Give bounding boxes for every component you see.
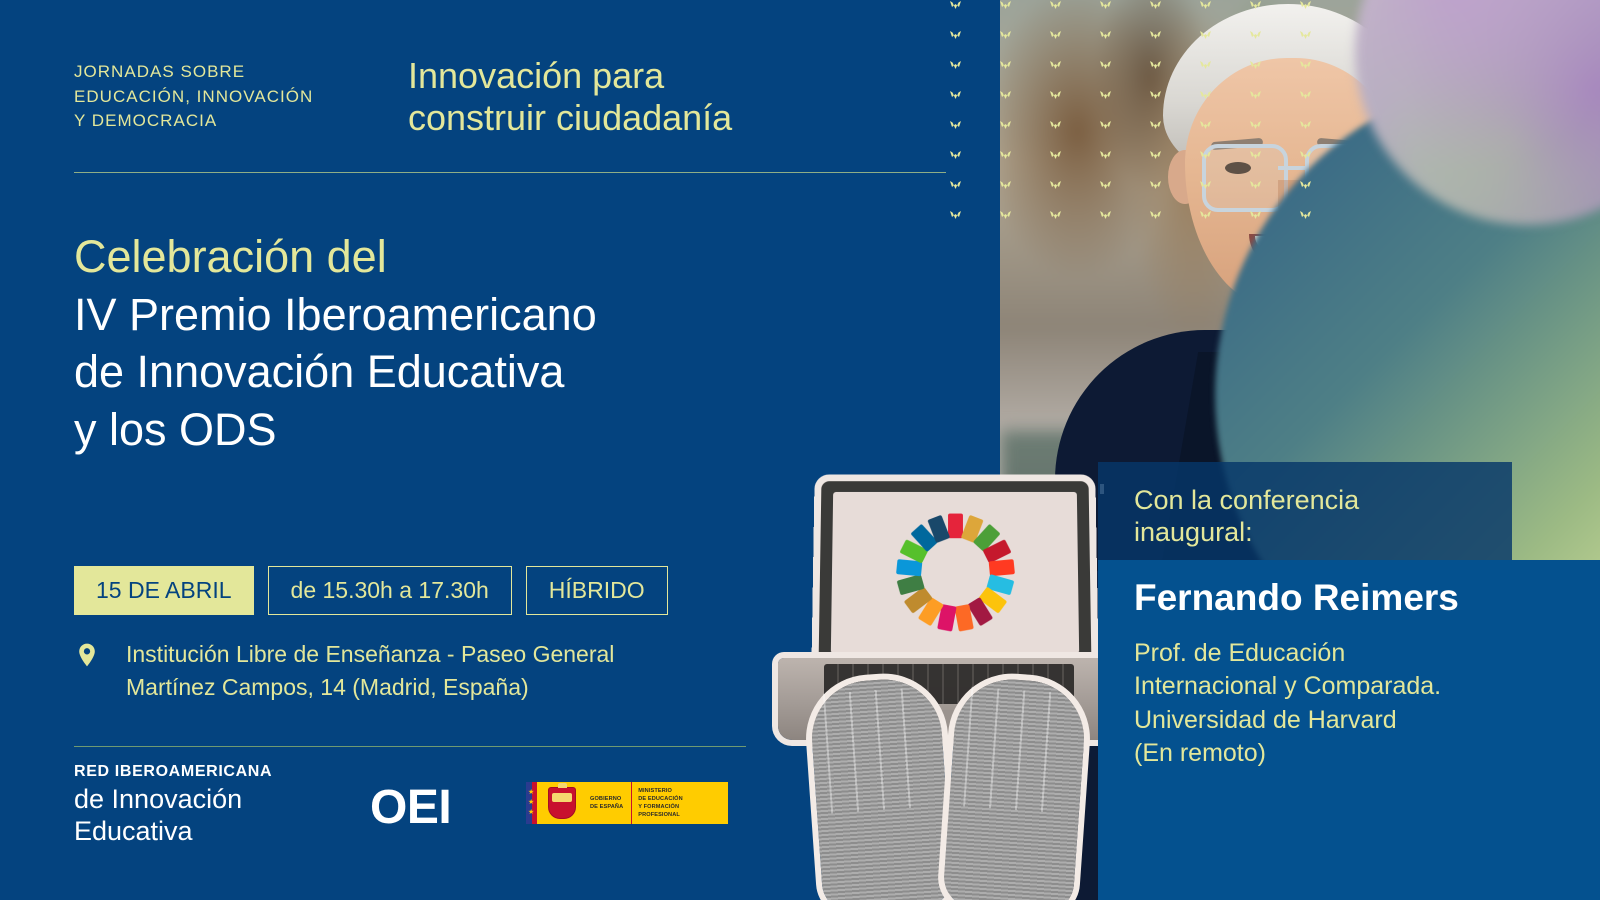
location-line-1: Institución Libre de Enseñanza - Paseo G… xyxy=(126,638,734,671)
chevron-icon xyxy=(1248,150,1262,160)
chevron-icon xyxy=(1148,90,1162,100)
chevron-icon xyxy=(1198,150,1212,160)
chevron-icon xyxy=(998,120,1012,130)
laptop-illustration xyxy=(760,470,1130,900)
event-kicker: JORNADAS SOBRE EDUCACIÓN, INNOVACIÓN Y D… xyxy=(74,60,404,134)
chevron-icon xyxy=(948,90,962,100)
badge-date[interactable]: 15 DE ABRIL xyxy=(74,566,254,615)
chevron-icon xyxy=(1248,90,1262,100)
lead-line-2: construir ciudadanía xyxy=(408,97,928,139)
chevron-icon xyxy=(1298,150,1312,160)
chevron-icon xyxy=(1148,0,1162,10)
speaker-role: Prof. de Educación Internacional y Compa… xyxy=(1134,637,1600,771)
spain-flag-strip: ★★★ xyxy=(526,782,542,824)
event-location: Institución Libre de Enseñanza - Paseo G… xyxy=(74,638,734,703)
chevron-icon xyxy=(1298,0,1312,10)
chevron-icon xyxy=(1098,90,1112,100)
speaker-role-line-4: (En remoto) xyxy=(1134,737,1600,771)
chevron-icon xyxy=(1198,60,1212,70)
chevron-icon xyxy=(948,60,962,70)
chevron-icon xyxy=(948,210,962,220)
min-line-1: MINISTERIO xyxy=(638,787,722,795)
chevron-icon xyxy=(1048,0,1062,10)
gobierno-de-espana-logo: ★★★ GOBIERNO DE ESPAÑA MINISTERIO DE EDU… xyxy=(526,782,728,824)
chevron-icon xyxy=(1048,30,1062,40)
map-pin-icon xyxy=(74,642,100,668)
laptop-screen xyxy=(831,492,1079,654)
chevron-icon xyxy=(1198,180,1212,190)
chevron-icon xyxy=(1248,30,1262,40)
chevron-icon xyxy=(1048,120,1062,130)
chevron-icon xyxy=(948,0,962,10)
gobierno-text: GOBIERNO DE ESPAÑA xyxy=(582,782,632,824)
chevron-icon xyxy=(1148,150,1162,160)
chevron-icon xyxy=(1098,30,1112,40)
chevron-icon xyxy=(1248,180,1262,190)
chevron-pattern xyxy=(948,0,1348,250)
eu-stars-icon: ★★★ xyxy=(528,788,534,818)
sdg-color-wheel-icon xyxy=(896,514,1015,632)
speaker-role-line-3: Universidad de Harvard xyxy=(1134,704,1600,738)
chevron-icon xyxy=(1098,150,1112,160)
chevron-icon xyxy=(1148,210,1162,220)
chevron-icon xyxy=(948,150,962,160)
chevron-icon xyxy=(998,150,1012,160)
speaker-intro-panel: Con la conferencia inaugural: xyxy=(1098,462,1512,560)
speaker-intro-line-2: inaugural: xyxy=(1134,516,1512,548)
chevron-icon xyxy=(1098,210,1112,220)
gob-line-2: DE ESPAÑA xyxy=(590,803,623,811)
chevron-icon xyxy=(1048,180,1062,190)
kicker-line-3: Y DEMOCRACIA xyxy=(74,109,404,134)
chevron-icon xyxy=(1198,0,1212,10)
kicker-line-2: EDUCACIÓN, INNOVACIÓN xyxy=(74,85,404,110)
kicker-line-1: JORNADAS SOBRE xyxy=(74,60,404,85)
location-line-2: Martínez Campos, 14 (Madrid, España) xyxy=(126,671,734,704)
rie-line-3: Educativa xyxy=(74,816,272,848)
speaker-role-line-1: Prof. de Educación xyxy=(1134,637,1600,671)
page-title: Celebración del IV Premio Iberoamericano… xyxy=(74,228,774,458)
rie-line-2: de Innovación xyxy=(74,784,272,816)
chevron-icon xyxy=(998,180,1012,190)
chevron-icon xyxy=(1248,0,1262,10)
chevron-icon xyxy=(1298,180,1312,190)
chevron-icon xyxy=(1298,90,1312,100)
lead-line-1: Innovación para xyxy=(408,55,928,97)
chevron-icon xyxy=(998,60,1012,70)
event-poster: JORNADAS SOBRE EDUCACIÓN, INNOVACIÓN Y D… xyxy=(0,0,1600,900)
min-line-3: Y FORMACIÓN PROFESIONAL xyxy=(638,803,722,819)
divider-bottom xyxy=(74,746,746,747)
spain-coat-of-arms-icon xyxy=(542,782,582,824)
chevron-icon xyxy=(1098,120,1112,130)
speaker-role-line-2: Internacional y Comparada. xyxy=(1134,670,1600,704)
chevron-icon xyxy=(1148,180,1162,190)
chevron-icon xyxy=(1048,210,1062,220)
rie-line-1: RED IBEROAMERICANA xyxy=(74,760,272,784)
event-lead-slogan: Innovación para construir ciudadanía xyxy=(408,55,928,140)
chevron-icon xyxy=(1048,150,1062,160)
chevron-icon xyxy=(1098,0,1112,10)
oei-logo: OEI xyxy=(370,780,451,835)
chevron-icon xyxy=(998,0,1012,10)
chevron-icon xyxy=(948,120,962,130)
chevron-icon xyxy=(1298,120,1312,130)
chevron-icon xyxy=(1248,210,1262,220)
chevron-icon xyxy=(1198,90,1212,100)
chevron-icon xyxy=(998,210,1012,220)
chevron-icon xyxy=(1248,120,1262,130)
chevron-icon xyxy=(948,180,962,190)
chevron-icon xyxy=(1198,120,1212,130)
chevron-icon xyxy=(1298,210,1312,220)
chevron-icon xyxy=(1048,90,1062,100)
title-line-4: y los ODS xyxy=(74,401,774,459)
sdg-wheel-segment xyxy=(948,514,963,539)
laptop-lid xyxy=(819,481,1092,666)
title-line-3: de Innovación Educativa xyxy=(74,343,774,401)
chevron-icon xyxy=(1198,30,1212,40)
chevron-icon xyxy=(1298,30,1312,40)
speaker-intro-line-1: Con la conferencia xyxy=(1134,484,1512,516)
chevron-icon xyxy=(1198,210,1212,220)
min-line-2: DE EDUCACIÓN xyxy=(638,795,722,803)
hand-right xyxy=(942,676,1088,900)
title-line-1: Celebración del xyxy=(74,228,774,286)
chevron-icon xyxy=(1148,120,1162,130)
chevron-icon xyxy=(998,90,1012,100)
chevron-icon xyxy=(1148,30,1162,40)
hand-left xyxy=(808,676,954,900)
chevron-icon xyxy=(1048,60,1062,70)
chevron-icon xyxy=(1248,60,1262,70)
speaker-info-panel: Fernando Reimers Prof. de Educación Inte… xyxy=(1098,560,1600,900)
speaker-name: Fernando Reimers xyxy=(1134,578,1600,619)
chevron-icon xyxy=(1148,60,1162,70)
chevron-icon xyxy=(998,30,1012,40)
event-details-badges: 15 DE ABRIL de 15.30h a 17.30h HÍBRIDO xyxy=(74,566,668,615)
title-line-2: IV Premio Iberoamericano xyxy=(74,286,774,344)
chevron-icon xyxy=(1098,60,1112,70)
chevron-icon xyxy=(1298,60,1312,70)
badge-time[interactable]: de 15.30h a 17.30h xyxy=(268,566,512,615)
ministerio-text: MINISTERIO DE EDUCACIÓN Y FORMACIÓN PROF… xyxy=(632,782,728,824)
chevron-icon xyxy=(1098,180,1112,190)
divider-top xyxy=(74,172,946,173)
gob-line-1: GOBIERNO xyxy=(590,795,623,803)
red-iberoamericana-logo: RED IBEROAMERICANA de Innovación Educati… xyxy=(74,760,272,848)
badge-format[interactable]: HÍBRIDO xyxy=(526,566,668,615)
chevron-icon xyxy=(948,30,962,40)
